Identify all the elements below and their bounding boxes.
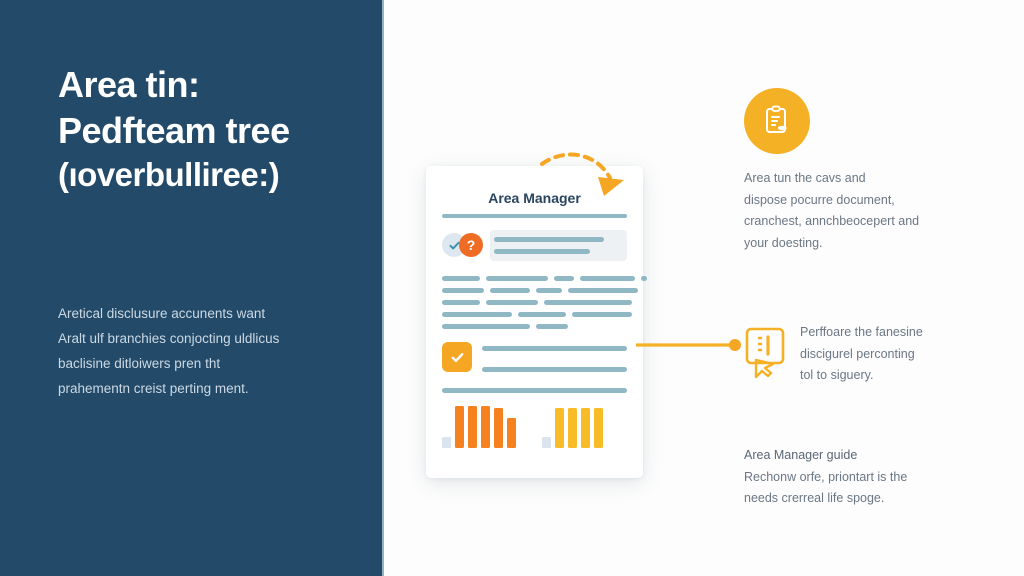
placeholder-line	[482, 346, 627, 351]
chart-bar	[455, 406, 464, 448]
chart-bar	[542, 437, 551, 448]
right-block-1-line-4: your doesting.	[744, 233, 956, 255]
screen-cursor-icon	[742, 326, 792, 382]
placeholder-line	[442, 312, 512, 317]
right-block-1-line-3: cranchest, annchbeocepert and	[744, 211, 956, 233]
document-checkbox-row[interactable]	[442, 342, 627, 376]
document-bar-chart	[442, 406, 627, 448]
right-block-3-line-1: Area Manager guide	[744, 445, 956, 467]
left-body-line-2: Aralt ulf branchies conjocting uldlicus	[58, 327, 358, 352]
document-footer-rule	[442, 388, 627, 396]
checkbox-checked-icon[interactable]	[442, 342, 472, 372]
question-circle-icon[interactable]: ?	[459, 233, 483, 257]
placeholder-line	[490, 288, 530, 293]
placeholder-line	[518, 312, 566, 317]
placeholder-line	[486, 300, 538, 305]
placeholder-line	[572, 312, 632, 317]
chart-bar	[594, 408, 603, 448]
right-block-3-line-2: Rechonw orfe, priontart is the	[744, 467, 956, 489]
headline-line-2: Pedfteam tree	[58, 108, 358, 154]
placeholder-line	[554, 276, 574, 281]
chart-bar	[555, 408, 564, 448]
headline-line-1: Area tin:	[58, 62, 358, 108]
placeholder-line	[536, 288, 562, 293]
placeholder-line	[482, 367, 627, 372]
document-highlight-field	[490, 230, 627, 261]
headline-line-3: (ıoverbulliree:)	[58, 154, 358, 196]
chart-bar	[468, 406, 477, 448]
chart-bar	[507, 418, 516, 448]
left-body-line-4: prahementn creist perting ment.	[58, 377, 358, 402]
right-block-1-line-1: Area tun the cavs and	[744, 168, 956, 190]
document-card[interactable]: Area Manager ?	[426, 166, 643, 478]
placeholder-line	[641, 276, 647, 281]
question-mark-glyph: ?	[467, 238, 476, 252]
right-block-2-text: Perffoare the fanesine discigurel percon…	[800, 322, 965, 387]
placeholder-line	[442, 288, 484, 293]
connector-line-dot-icon	[636, 330, 756, 360]
chart-bar	[568, 408, 577, 448]
chart-bar	[581, 408, 590, 448]
left-panel-body-text: Aretical disclusure accunents want Aralt…	[58, 302, 358, 402]
placeholder-line	[442, 324, 530, 329]
placeholder-line	[544, 300, 632, 305]
left-body-line-1: Aretical disclusure accunents want	[58, 302, 358, 327]
document-badge-row: ?	[442, 230, 627, 264]
document-clipboard-icon	[744, 88, 810, 154]
curved-dashed-arrow-icon	[534, 144, 644, 206]
placeholder-line	[442, 300, 480, 305]
placeholder-line	[568, 288, 638, 293]
chart-bar	[442, 437, 451, 448]
right-block-1-text: Area tun the cavs and dispose pocurre do…	[744, 168, 956, 254]
document-title-divider	[442, 214, 627, 218]
left-panel: Area tin: Pedfteam tree (ıoverbulliree:)…	[0, 0, 384, 576]
chart-bar	[494, 408, 503, 448]
right-block-2-line-3: tol to siguery.	[800, 365, 965, 387]
placeholder-line	[536, 324, 568, 329]
chart-bar	[481, 406, 490, 448]
right-block-1-line-2: dispose pocurre document,	[744, 190, 956, 212]
right-block-2-line-2: discigurel perconting	[800, 344, 965, 366]
placeholder-line	[486, 276, 548, 281]
placeholder-line	[442, 388, 627, 393]
placeholder-line	[494, 249, 590, 254]
document-placeholder-lines	[442, 276, 627, 336]
right-block-2-line-1: Perffoare the fanesine	[800, 322, 965, 344]
placeholder-line	[580, 276, 635, 281]
right-block-3-line-3: needs crerreal life spoge.	[744, 488, 956, 510]
placeholder-line	[442, 276, 480, 281]
left-body-line-3: baclisine ditloiwers pren tht	[58, 352, 358, 377]
infographic-canvas: Area tin: Pedfteam tree (ıoverbulliree:)…	[0, 0, 1024, 576]
page-title: Area tin: Pedfteam tree (ıoverbulliree:)	[58, 62, 358, 196]
placeholder-line	[494, 237, 604, 242]
right-block-3-text: Area Manager guide Rechonw orfe, prionta…	[744, 445, 956, 510]
